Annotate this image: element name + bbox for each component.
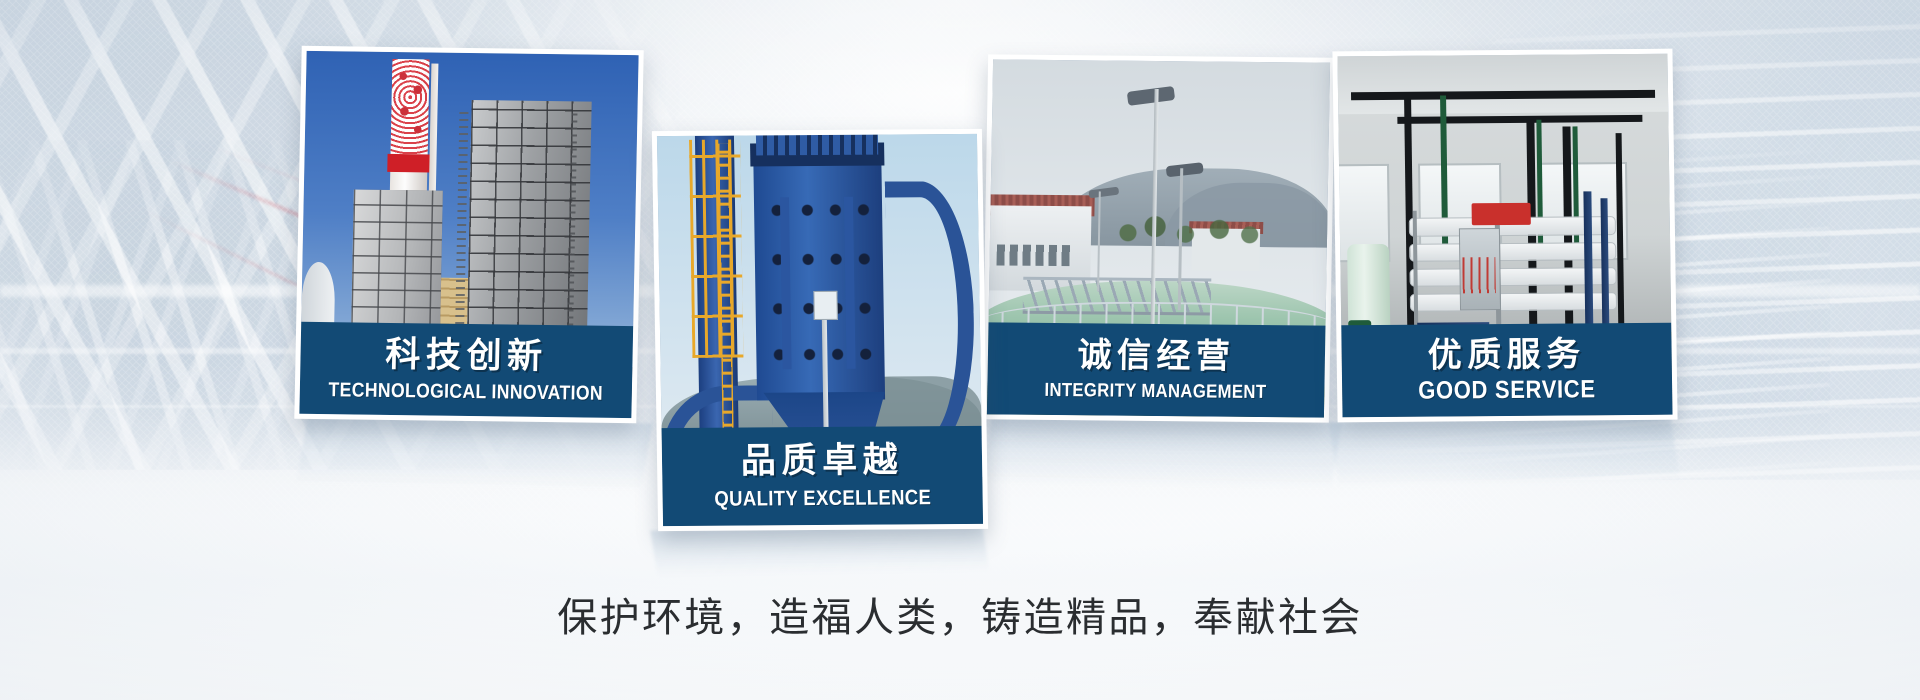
panel-title-cn: 科技创新: [385, 337, 548, 374]
photo-trees: [1111, 203, 1280, 247]
photo-control-indicators: [1462, 257, 1496, 293]
feature-panel-technological-innovation[interactable]: 科技创新 TECHNOLOGICAL INNOVATION: [294, 46, 643, 423]
panel-caption: 科技创新 TECHNOLOGICAL INNOVATION: [299, 322, 633, 418]
panel-inner: 优质服务 GOOD SERVICE: [1337, 54, 1672, 418]
photo-collector-fins: [756, 135, 878, 155]
banner-tagline: 保护环境，造福人类，铸造精品，奉献社会: [0, 585, 1920, 643]
photo-chimney-pattern: [391, 59, 429, 154]
photo-sensor-box: [813, 291, 838, 320]
panel-caption: 品质卓越 QUALITY EXCELLENCE: [662, 426, 984, 526]
panel-caption: 诚信经营 INTEGRITY MANAGEMENT: [987, 322, 1326, 417]
panel-inner: 科技创新 TECHNOLOGICAL INNOVATION: [299, 51, 638, 418]
panel-title-en: QUALITY EXCELLENCE: [714, 487, 931, 510]
panel-title-cn: 品质卓越: [741, 442, 904, 478]
panel-inner: 品质卓越 QUALITY EXCELLENCE: [657, 134, 983, 526]
photo-warning-sign: [1472, 203, 1532, 225]
feature-panel-good-service[interactable]: 优质服务 GOOD SERVICE: [1332, 49, 1677, 423]
panel-title-en: TECHNOLOGICAL INNOVATION: [328, 380, 603, 404]
panel-caption: 优质服务 GOOD SERVICE: [1341, 323, 1672, 418]
photo-chimney-red-band: [387, 154, 431, 173]
panel-title-en: INTEGRITY MANAGEMENT: [1045, 381, 1267, 402]
banner-stage: 科技创新 TECHNOLOGICAL INNOVATION: [0, 0, 1920, 700]
feature-panel-integrity-management[interactable]: 诚信经营 INTEGRITY MANAGEMENT: [982, 54, 1335, 422]
panel-inner: 诚信经营 INTEGRITY MANAGEMENT: [987, 59, 1330, 417]
photo-ceiling: [1337, 54, 1668, 114]
panel-title-cn: 诚信经营: [1077, 338, 1235, 374]
panel-title-cn: 优质服务: [1428, 337, 1586, 372]
photo-ladder-cage: [689, 139, 744, 358]
photo-building-windows: [996, 244, 1070, 266]
panel-title-en: GOOD SERVICE: [1418, 377, 1596, 403]
feature-panel-quality-excellence[interactable]: 品质卓越 QUALITY EXCELLENCE: [652, 129, 988, 531]
